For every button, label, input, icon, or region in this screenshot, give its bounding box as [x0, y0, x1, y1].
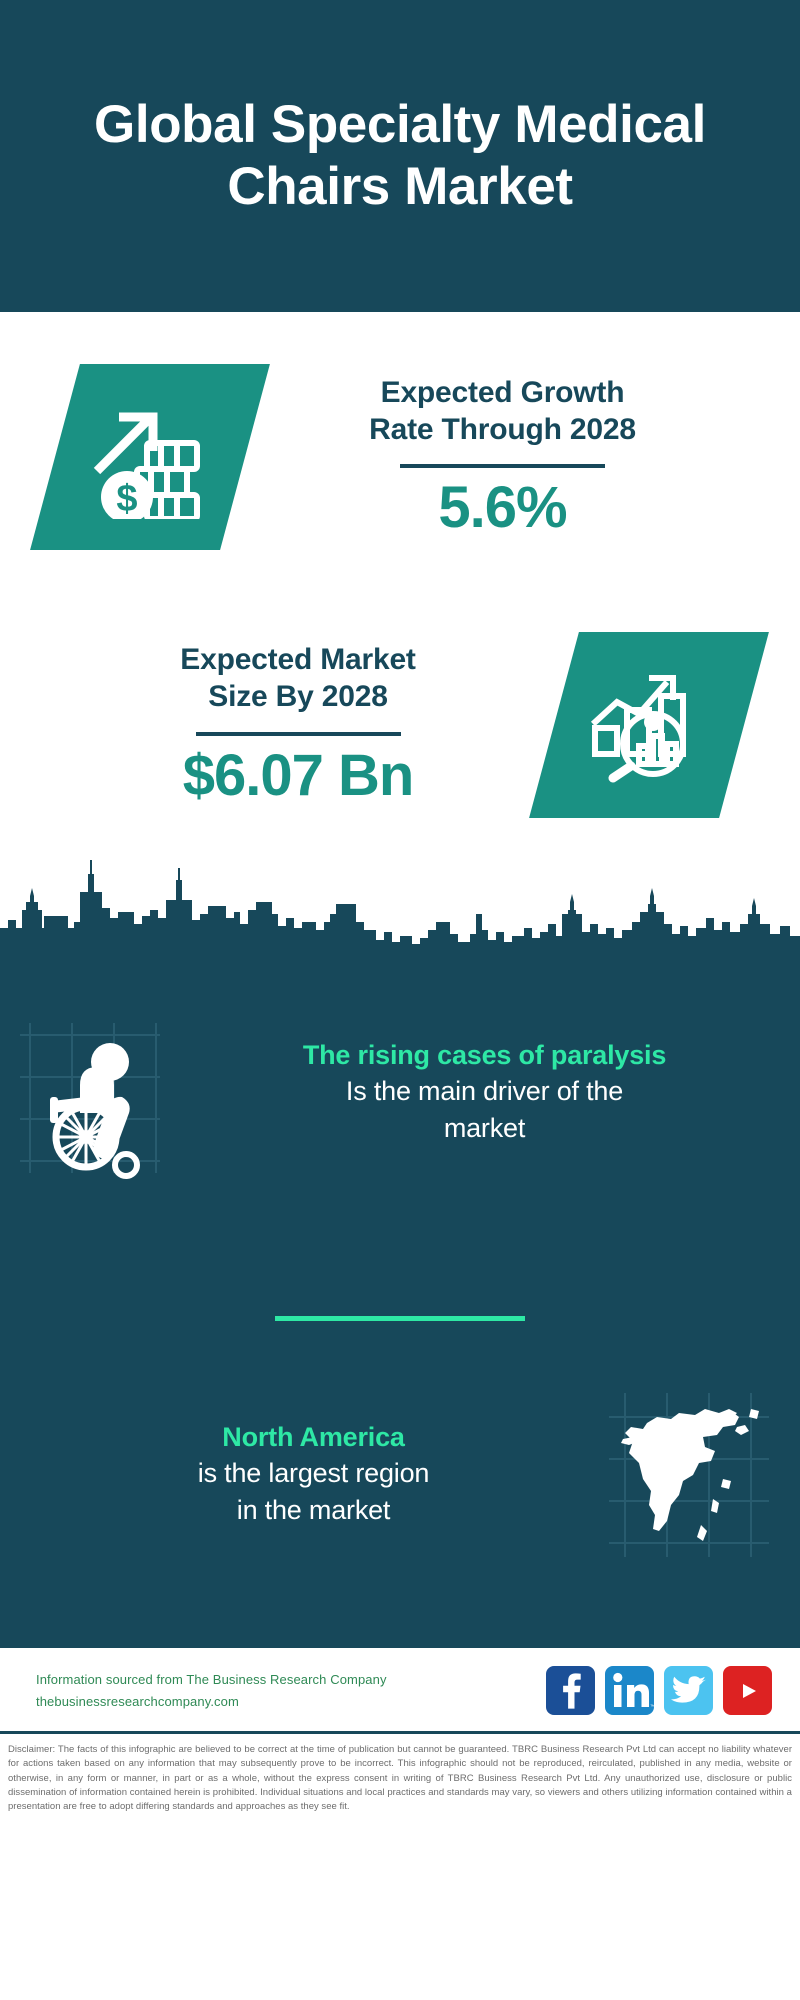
money-growth-tile: $ [30, 364, 270, 550]
stat-size-divider [196, 732, 401, 736]
twitter-link[interactable] [664, 1666, 713, 1715]
north-america-map-wrap [601, 1387, 776, 1562]
largest-region-subtext-line1: is the largest region [40, 1455, 587, 1492]
source-website[interactable]: thebusinessresearchcompany.com [36, 1691, 536, 1712]
source-attribution: Information sourced from The Business Re… [36, 1669, 536, 1712]
market-driver-highlight: The rising cases of paralysis [189, 1038, 780, 1073]
disclaimer-text: Disclaimer: The facts of this infographi… [8, 1743, 792, 1814]
stat-size-label-line2: Size By 2028 [50, 679, 546, 716]
dark-content-section: The rising cases of paralysis Is the mai… [0, 947, 800, 1648]
stat-size-value: $6.07 Bn [50, 746, 546, 807]
market-driver-text: The rising cases of paralysis Is the mai… [175, 1038, 800, 1148]
page-title: Global Specialty Medical Chairs Market [40, 94, 760, 218]
stat-market-size: Expected Market Size By 2028 $6.07 Bn [0, 602, 800, 847]
stat-growth-label-line1: Expected Growth [245, 375, 760, 412]
linkedin-link[interactable]: ™ [605, 1666, 654, 1715]
stat-growth-label-line2: Rate Through 2028 [245, 412, 760, 449]
city-skyline-graphic [0, 852, 800, 952]
infographic-header: Global Specialty Medical Chairs Market [0, 0, 800, 312]
facebook-link[interactable] [546, 1666, 595, 1715]
money-growth-icon: $ [87, 395, 213, 519]
svg-text:™: ™ [650, 1704, 654, 1710]
market-driver-subtext-line2: market [189, 1110, 780, 1147]
wheelchair-icon-wrap [0, 1005, 175, 1180]
svg-text:$: $ [116, 478, 137, 519]
facebook-icon [546, 1666, 595, 1715]
largest-region-subtext-line2: in the market [40, 1492, 587, 1529]
stat-growth-text: Expected Growth Rate Through 2028 5.6% [245, 375, 800, 539]
chart-magnifier-icon [587, 666, 711, 784]
infographic-footer: Information sourced from The Business Re… [0, 1648, 800, 1731]
stats-section: $ Expected Growth Rate Through 2028 5.6%… [0, 312, 800, 847]
largest-region-text: North America is the largest region in t… [0, 1420, 601, 1530]
stat-market-size-text: Expected Market Size By 2028 $6.07 Bn [40, 642, 554, 806]
largest-region-panel: North America is the largest region in t… [0, 1387, 800, 1648]
youtube-icon [723, 1666, 772, 1715]
section-divider [275, 1316, 525, 1321]
north-america-map-icon [601, 1387, 776, 1562]
source-company: Information sourced from The Business Re… [36, 1669, 536, 1690]
stat-growth-value: 5.6% [245, 478, 760, 539]
market-driver-panel: The rising cases of paralysis Is the mai… [0, 953, 800, 1220]
social-links: ™ [546, 1666, 772, 1715]
youtube-link[interactable] [723, 1666, 772, 1715]
linkedin-icon: ™ [605, 1666, 654, 1715]
wheelchair-icon [0, 1005, 175, 1180]
stat-growth-divider [400, 464, 605, 468]
disclaimer-section: Disclaimer: The facts of this infographi… [0, 1731, 800, 1822]
market-driver-subtext-line1: Is the main driver of the [189, 1073, 780, 1110]
largest-region-highlight: North America [40, 1420, 587, 1455]
stat-growth-rate: $ Expected Growth Rate Through 2028 5.6% [0, 312, 800, 602]
stat-size-label-line1: Expected Market [50, 642, 546, 679]
chart-magnifier-tile [529, 632, 769, 818]
twitter-icon [664, 1666, 713, 1715]
